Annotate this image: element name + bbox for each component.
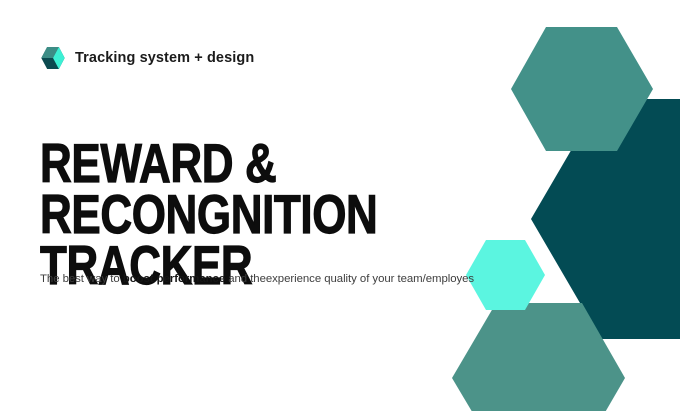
page-title-line-1: REWARD & RECONGNITION: [40, 132, 377, 245]
subtitle-highlight: boost performance: [123, 273, 225, 285]
hexagon-logo-icon: [40, 45, 66, 71]
brand-header: Tracking system + design: [40, 45, 254, 71]
hexagon-dark-teal-large: [531, 99, 680, 339]
subtitle-prefix: The best way to: [40, 273, 123, 285]
hexagon-teal-top: [511, 27, 653, 151]
hexagon-teal-bottom: [452, 303, 625, 411]
page-subtitle: The best way to boost performance and th…: [40, 272, 510, 286]
subtitle-suffix: and theexperience quality of your team/e…: [225, 273, 474, 285]
page-title: REWARD & RECONGNITION TRACKER: [40, 138, 456, 291]
brand-name-label: Tracking system + design: [75, 50, 254, 66]
page-title-line-2: TRACKER: [40, 234, 252, 296]
presentation-slide: Tracking system + design REWARD & RECONG…: [0, 0, 680, 411]
